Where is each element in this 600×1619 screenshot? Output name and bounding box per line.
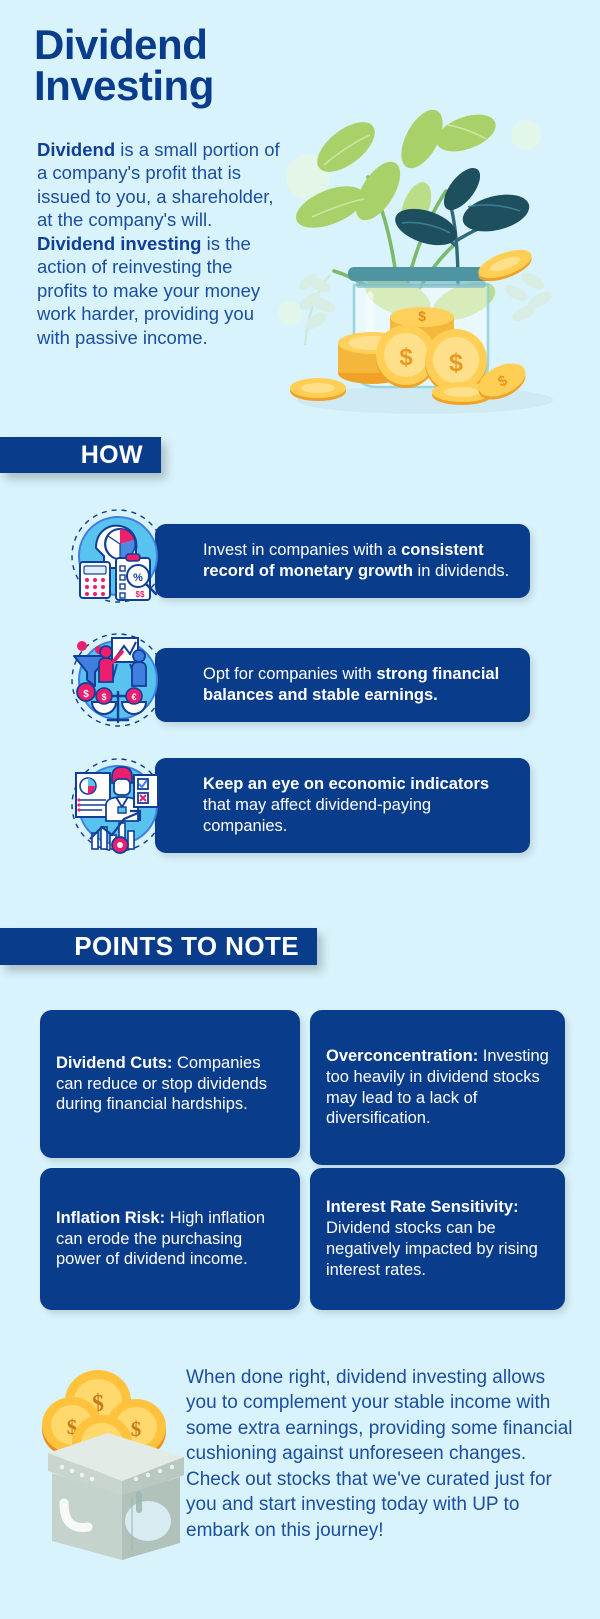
point-card-dividend-cuts-heading: Dividend Cuts: [56,1054,172,1072]
globe-balance-scale-presentation-icon: $ $ € [68,630,168,730]
point-card-overconcentration-text: Overconcentration: Investing too heavily… [326,1046,549,1129]
point-card-dividend-cuts-text: Dividend Cuts: Companies can reduce or s… [56,1053,284,1115]
svg-text:%: % [133,572,143,584]
how-card-2: Opt for companies with strong financial … [155,648,530,722]
svg-text:$: $ [418,308,426,324]
point-card-overconcentration-heading: Overconcentration: [326,1047,478,1065]
how-card-1-text-1: Invest in companies with a [203,541,401,559]
section-banner-points-to-note: POINTS TO NOTE [0,928,317,965]
hero-paragraph: Dividend is a small portion of a company… [37,138,282,349]
money-jar-plant-coins-illustration: $ $ $ [250,95,600,420]
svg-text:$$: $$ [136,590,145,599]
svg-text:$: $ [83,689,89,700]
hero-bold-dividend: Dividend [37,139,115,160]
how-card-3-bold: Keep an eye on economic indicators [203,775,489,793]
how-card-1: Invest in companies with a consistent re… [155,524,530,598]
how-card-3-text-2: that may affect dividend-paying companie… [203,796,431,835]
svg-text:$: $ [399,344,413,371]
head-pie-chart-calculator-icon: % $$ [68,506,168,606]
coin-bank-box-illustration: $ $ $ ₹ [36,1345,196,1560]
point-card-inflation-risk-text: Inflation Risk: High inflation can erode… [56,1208,284,1270]
footer-paragraph-2: Check out stocks that we've curated just… [186,1467,576,1543]
footer-paragraph-1: When done right, dividend investing allo… [186,1367,573,1464]
point-card-interest-rate-sensitivity-body: Dividend stocks can be negatively impact… [326,1219,538,1279]
how-card-1-text-2: in dividends. [413,562,509,580]
svg-text:$: $ [131,1417,142,1441]
title-line-1: Dividend [34,21,207,68]
svg-text:$: $ [449,349,463,377]
banner-points-label: POINTS TO NOTE [74,931,299,962]
footer-text: When done right, dividend investing allo… [186,1365,576,1543]
how-card-2-text-1: Opt for companies with [203,665,376,683]
point-card-dividend-cuts: Dividend Cuts: Companies can reduce or s… [40,1010,300,1158]
svg-text:€: € [131,692,136,702]
hero-bold-dividend-investing: Dividend investing [37,233,201,254]
point-card-interest-rate-sensitivity-text: Interest Rate Sensitivity: Dividend stoc… [326,1197,549,1280]
point-card-overconcentration: Overconcentration: Investing too heavily… [310,1010,565,1165]
point-card-interest-rate-sensitivity: Interest Rate Sensitivity: Dividend stoc… [310,1168,565,1310]
point-card-interest-rate-sensitivity-heading: Interest Rate Sensitivity: [326,1198,519,1216]
hero-section: Dividend Investing Dividend is a small p… [0,0,600,420]
point-card-inflation-risk-heading: Inflation Risk: [56,1209,165,1227]
point-card-inflation-risk: Inflation Risk: High inflation can erode… [40,1168,300,1310]
page-title: Dividend Investing [34,24,324,106]
svg-text:$: $ [101,692,106,702]
report-checklist-growth-chart-icon [68,755,168,855]
banner-how-label: HOW [81,441,143,470]
how-card-3: Keep an eye on economic indicators that … [155,758,530,853]
section-banner-how: HOW [0,437,161,473]
